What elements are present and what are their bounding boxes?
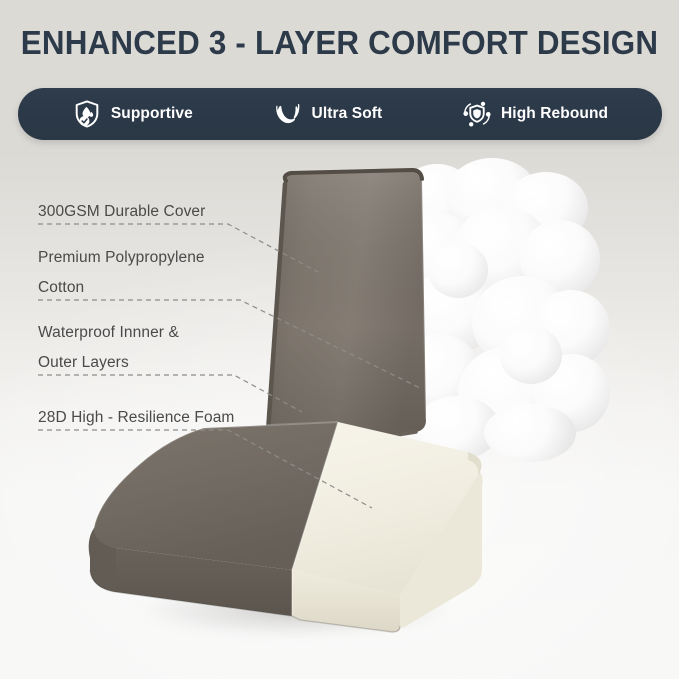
- annotation-text-line2: Cotton: [38, 273, 205, 303]
- annotation-cotton: Premium Polypropylene Cotton: [38, 243, 205, 303]
- annotation-text: 28D High - Resilience Foam: [38, 409, 234, 426]
- annotation-text: 300GSM Durable Cover: [38, 203, 205, 220]
- annotation-cover: 300GSM Durable Cover: [38, 197, 205, 227]
- annotation-labels: 300GSM Durable Cover Premium Polypropyle…: [0, 0, 679, 679]
- annotation-text: Waterproof Innner &: [38, 324, 179, 341]
- annotation-text-line2: Outer Layers: [38, 348, 179, 378]
- annotation-foam: 28D High - Resilience Foam: [38, 403, 234, 433]
- annotation-text: Premium Polypropylene: [38, 249, 205, 266]
- product-infographic: ENHANCED 3 - LAYER COMFORT DESIGN Suppor…: [0, 0, 679, 679]
- annotation-layers: Waterproof Innner & Outer Layers: [38, 318, 179, 378]
